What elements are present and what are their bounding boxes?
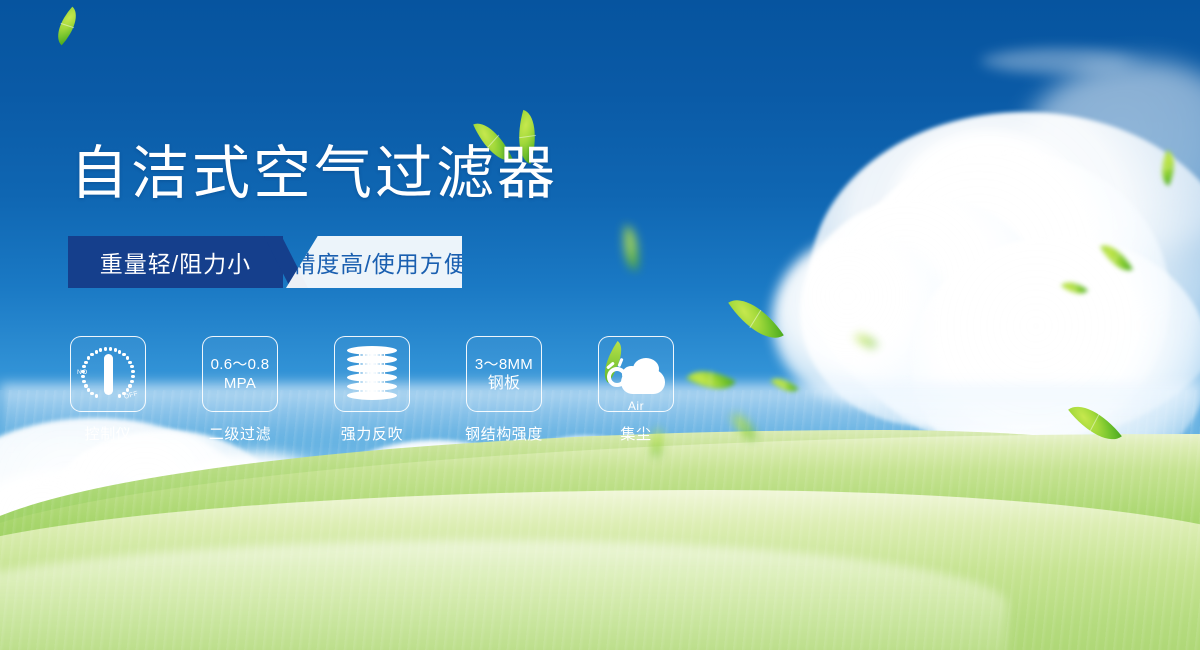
tagline-primary: 重量轻/阻力小 xyxy=(68,236,283,288)
dial-tick xyxy=(99,348,102,351)
feature-item-pressure[interactable]: 0.6～0.8 MPA 二级过滤 xyxy=(202,336,278,444)
dial-tick xyxy=(109,347,112,350)
dial-tick xyxy=(87,356,90,359)
cartridge-ring xyxy=(347,346,397,355)
dial-tick xyxy=(130,380,133,383)
steel-value-line2: 钢板 xyxy=(488,374,521,393)
dial-tick xyxy=(90,353,93,356)
dial-tick xyxy=(84,361,87,364)
banner-content: 自洁式空气过滤器 重量轻/阻力小 精度高/使用方便 NO OFF xyxy=(0,0,1200,650)
dial-tick xyxy=(82,365,85,368)
feature-item-dust[interactable]: Air 集尘 xyxy=(598,336,674,444)
feature-item-steel[interactable]: 3～8MM 钢板 钢结构强度 xyxy=(466,336,542,444)
dial-tick xyxy=(95,350,98,353)
dial-tick xyxy=(118,394,121,397)
pressure-value-line1: 0.6～0.8 xyxy=(211,355,270,374)
cartridge-ring xyxy=(347,382,397,391)
tagline-banner: 重量轻/阻力小 精度高/使用方便 xyxy=(68,236,462,288)
dial-tick xyxy=(118,350,121,353)
feature-icon-box: 0.6～0.8 MPA xyxy=(202,336,278,412)
feature-caption: 集尘 xyxy=(620,423,651,444)
dial-tick xyxy=(82,380,85,383)
cartridge-ring xyxy=(347,364,397,373)
air-cloud-icon: Air xyxy=(607,352,665,396)
dial-tick xyxy=(126,388,129,391)
dial-tick xyxy=(122,392,125,395)
dial-tick xyxy=(87,388,90,391)
feature-caption: 强力反吹 xyxy=(341,423,403,444)
tagline-secondary-label: 精度高/使用方便 xyxy=(280,245,467,279)
dial-tick xyxy=(84,384,87,387)
dial-tick xyxy=(131,375,134,378)
filter-cartridge-icon xyxy=(347,346,397,402)
dial-tick xyxy=(81,375,84,378)
air-label: Air xyxy=(607,399,665,412)
cartridge-ring xyxy=(347,355,397,364)
dial-tick xyxy=(81,370,84,373)
dial-tick xyxy=(90,392,93,395)
cloud-body xyxy=(621,369,665,394)
pressure-value-line2: MPA xyxy=(224,374,256,393)
dial-tick xyxy=(114,348,117,351)
feature-item-backblow[interactable]: 强力反吹 xyxy=(334,336,410,444)
feature-caption: 控制仪 xyxy=(85,423,132,444)
feature-icon-box: 3～8MM 钢板 xyxy=(466,336,542,412)
hero-banner: 自洁式空气过滤器 重量轻/阻力小 精度高/使用方便 NO OFF xyxy=(0,0,1200,650)
steel-value-line1: 3～8MM xyxy=(475,355,533,374)
feature-icon-box: NO OFF xyxy=(70,336,146,412)
dial-tick xyxy=(131,370,134,373)
dial-needle xyxy=(104,354,113,395)
cartridge-ring xyxy=(347,373,397,382)
feature-item-control[interactable]: NO OFF 控制仪 xyxy=(70,336,146,444)
dial-tick xyxy=(122,353,125,356)
feature-caption: 钢结构强度 xyxy=(465,423,543,444)
dial-tick xyxy=(130,365,133,368)
feature-icon-box xyxy=(334,336,410,412)
feature-caption: 二级过滤 xyxy=(209,423,271,444)
dial-tick xyxy=(104,347,107,350)
dial-tick xyxy=(128,361,131,364)
dial-gauge-icon: NO OFF xyxy=(77,345,139,403)
feature-list: NO OFF 控制仪 0.6～0.8 MPA 二级过滤 xyxy=(70,336,674,444)
tagline-primary-label: 重量轻/阻力小 xyxy=(100,245,251,279)
tagline-secondary: 精度高/使用方便 xyxy=(286,236,462,288)
dial-tick xyxy=(128,384,131,387)
dial-tick xyxy=(95,394,98,397)
page-title: 自洁式空气过滤器 xyxy=(70,142,558,206)
dial-tick xyxy=(126,356,129,359)
cartridge-ring xyxy=(347,391,397,400)
feature-icon-box: Air xyxy=(598,336,674,412)
